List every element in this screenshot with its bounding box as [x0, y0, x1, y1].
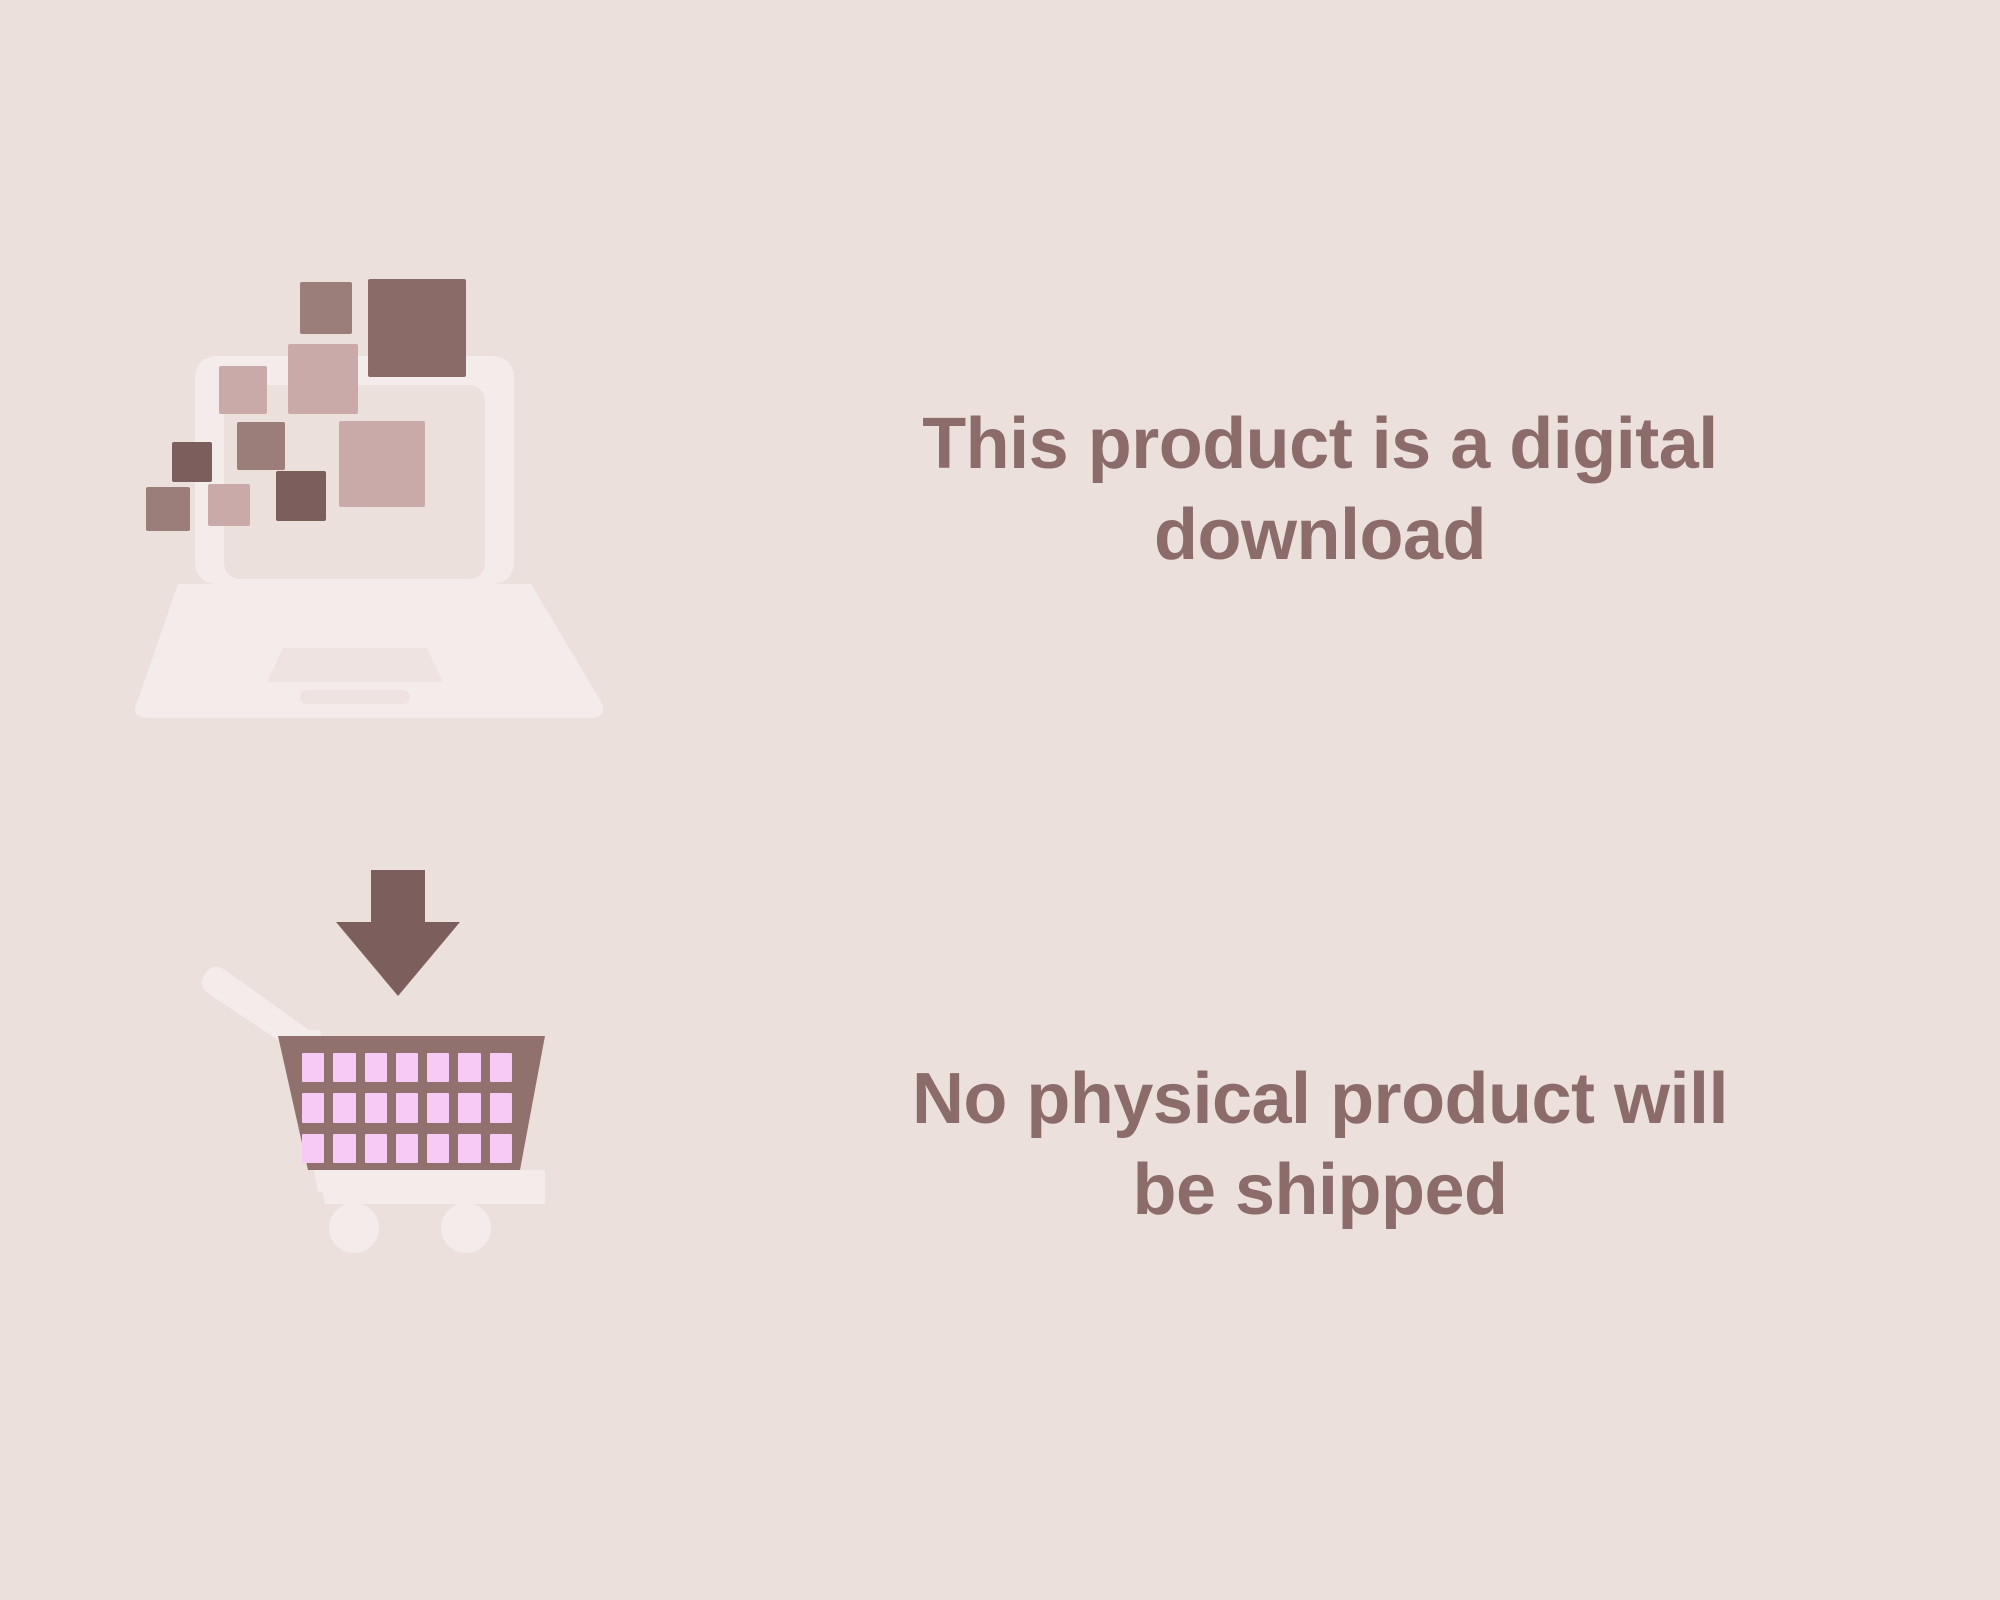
feature-row-no-shipping: No physical product will be shipped	[0, 930, 2000, 1360]
basket-cell	[333, 1134, 355, 1163]
no-shipping-text-cell: No physical product will be shipped	[760, 930, 2000, 1360]
basket-cell	[302, 1093, 324, 1122]
basket-cell	[458, 1093, 480, 1122]
feature-label-no-shipping: No physical product will be shipped	[910, 1054, 1730, 1237]
basket-cell	[458, 1134, 480, 1163]
pixel-square	[276, 471, 326, 521]
cart-down-arrow-icon	[336, 870, 460, 996]
pixel-square	[237, 422, 285, 470]
basket-cell	[427, 1053, 449, 1082]
promo-graphic: This product is a digital download	[0, 0, 2000, 1600]
basket-cell	[490, 1093, 512, 1122]
pixel-square	[172, 442, 212, 482]
basket-cell	[365, 1134, 387, 1163]
basket-cell	[333, 1053, 355, 1082]
pixel-square	[368, 279, 466, 377]
pixel-square	[339, 421, 425, 507]
pixel-square	[300, 282, 352, 334]
basket-cell	[396, 1134, 418, 1163]
laptop-trackpad	[267, 648, 443, 682]
digital-download-icon-cell	[0, 230, 760, 750]
laptop-front-lip	[300, 690, 410, 704]
cart-wheel-right	[441, 1203, 491, 1253]
basket-cell	[302, 1053, 324, 1082]
basket-cell	[427, 1093, 449, 1122]
basket-cell	[490, 1053, 512, 1082]
cart-wheel-left	[329, 1203, 379, 1253]
cart-bottom-rail	[318, 1170, 545, 1204]
pixel-square	[208, 484, 250, 526]
feature-row-digital-download: This product is a digital download	[0, 230, 2000, 750]
basket-cell	[302, 1134, 324, 1163]
feature-label-digital-download: This product is a digital download	[910, 399, 1730, 582]
no-shipping-icon-cell	[0, 930, 760, 1360]
pixel-square	[146, 487, 190, 531]
pixel-square	[288, 344, 358, 414]
basket-cell	[396, 1053, 418, 1082]
basket-cell	[365, 1053, 387, 1082]
basket-cell	[427, 1134, 449, 1163]
pixel-square	[219, 366, 267, 414]
basket-cell	[490, 1134, 512, 1163]
basket-cell	[396, 1093, 418, 1122]
basket-cell	[365, 1093, 387, 1122]
cart-basket-grid	[302, 1053, 512, 1163]
basket-cell	[333, 1093, 355, 1122]
basket-cell	[458, 1053, 480, 1082]
digital-download-text-cell: This product is a digital download	[760, 230, 2000, 750]
